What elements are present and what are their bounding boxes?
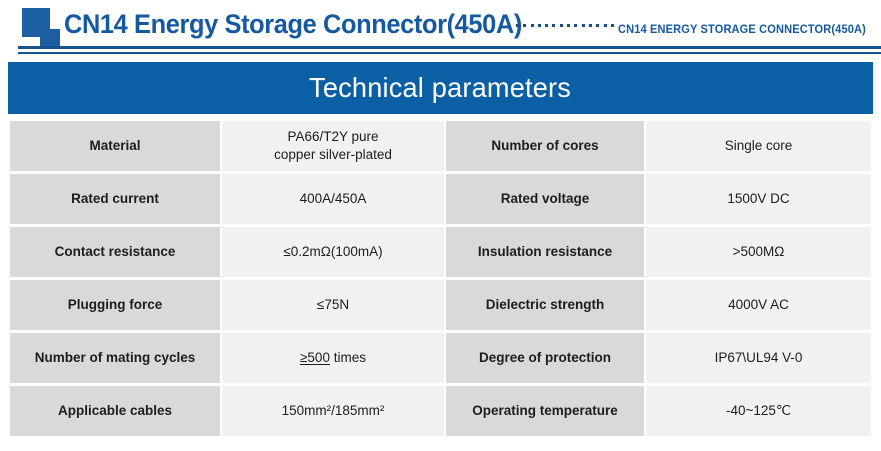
header-rule-thick (18, 46, 881, 49)
leader-dot-icon (574, 24, 577, 27)
param-value: 400A/450A (222, 174, 444, 224)
header-rule-thin (18, 52, 881, 54)
section-title: Technical parameters (309, 72, 571, 104)
param-label: Rated voltage (446, 174, 644, 224)
company-logo (14, 8, 68, 50)
param-label: Operating temperature (446, 386, 644, 436)
table-row: Applicable cables 150mm²/185mm² Operatin… (10, 386, 871, 436)
leader-dot-icon (611, 24, 614, 27)
table-row: Number of mating cycles ≥500 times Degre… (10, 333, 871, 383)
param-label: Plugging force (10, 280, 220, 330)
leader-dot-icon (567, 24, 570, 27)
page-header: CN14 Energy Storage Connector(450A) CN14… (0, 0, 881, 58)
param-value: -40~125℃ (646, 386, 871, 436)
param-value-underlined: ≥500 (300, 350, 330, 365)
param-value: >500MΩ (646, 227, 871, 277)
leader-dot-icon (523, 24, 526, 27)
param-value: Single core (646, 121, 871, 171)
leader-dot-icon (545, 24, 548, 27)
table-row: Rated current 400A/450A Rated voltage 15… (10, 174, 871, 224)
leader-dot-icon (604, 24, 607, 27)
param-value: ≤75N (222, 280, 444, 330)
leader-dot-icon (582, 24, 585, 27)
param-label: Number of cores (446, 121, 644, 171)
leader-dot-icon (516, 24, 519, 27)
param-label: Rated current (10, 174, 220, 224)
param-label: Material (10, 121, 220, 171)
leader-dot-icon (538, 24, 541, 27)
param-value-line: PA66/T2Y pure (222, 128, 444, 146)
param-value: 1500V DC (646, 174, 871, 224)
param-label: Number of mating cycles (10, 333, 220, 383)
param-value: PA66/T2Y pure copper silver-plated (222, 121, 444, 171)
page-subtitle: CN14 ENERGY STORAGE CONNECTOR(450A) (618, 24, 866, 36)
param-value: ≥500 times (222, 333, 444, 383)
param-value: ≤0.2mΩ(100mA) (222, 227, 444, 277)
table-row: Material PA66/T2Y pure copper silver-pla… (10, 121, 871, 171)
leader-dot-icon (560, 24, 563, 27)
datasheet-page: CN14 Energy Storage Connector(450A) CN14… (0, 0, 881, 451)
param-value: IP67\UL94 V-0 (646, 333, 871, 383)
leader-dot-icon (596, 24, 599, 27)
param-value-line: copper silver-plated (222, 146, 444, 164)
technical-parameters-table: Material PA66/T2Y pure copper silver-pla… (8, 118, 873, 439)
param-label: Dielectric strength (446, 280, 644, 330)
param-label: Applicable cables (10, 386, 220, 436)
leader-dot-icon (589, 24, 592, 27)
section-banner: Technical parameters (8, 62, 873, 114)
table-row: Plugging force ≤75N Dielectric strength … (10, 280, 871, 330)
page-title: CN14 Energy Storage Connector(450A) (64, 9, 522, 40)
param-label: Insulation resistance (446, 227, 644, 277)
param-label: Contact resistance (10, 227, 220, 277)
table-row: Contact resistance ≤0.2mΩ(100mA) Insulat… (10, 227, 871, 277)
param-value: 4000V AC (646, 280, 871, 330)
leader-dot-icon (531, 24, 534, 27)
dot-leader-decoration (516, 24, 614, 27)
param-value: 150mm²/185mm² (222, 386, 444, 436)
param-label: Degree of protection (446, 333, 644, 383)
leader-dot-icon (552, 24, 555, 27)
param-value-suffix: times (330, 350, 366, 365)
